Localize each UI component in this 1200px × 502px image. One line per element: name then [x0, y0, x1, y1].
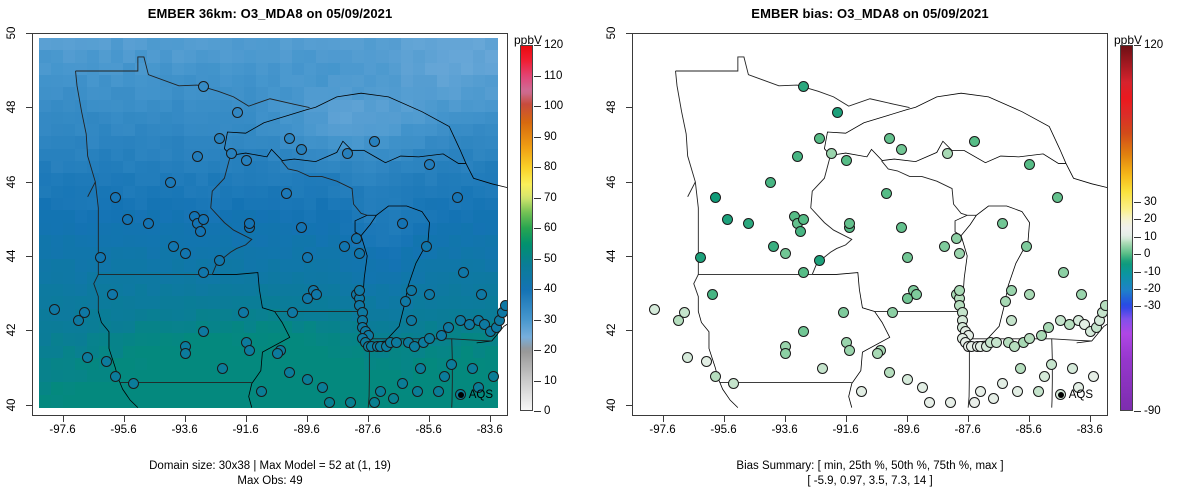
x-axis-tick	[968, 416, 969, 422]
aqs-station-marker[interactable]	[1067, 363, 1078, 374]
aqs-dot-icon	[1058, 392, 1064, 398]
aqs-station-marker[interactable]	[695, 252, 706, 263]
y-axis-tick	[26, 33, 32, 34]
aqs-station-marker[interactable]	[101, 356, 112, 367]
x-axis-tick-label: -97.6	[49, 424, 75, 436]
aqs-station-markers-bias[interactable]	[633, 34, 1107, 415]
aqs-station-marker[interactable]	[238, 307, 249, 318]
aqs-station-marker[interactable]	[296, 144, 307, 155]
x-axis-tick	[185, 416, 186, 422]
aqs-station-marker[interactable]	[649, 304, 660, 315]
colorbar-tick	[534, 259, 541, 260]
x-axis-tick-label: -97.6	[649, 424, 675, 436]
aqs-station-marker[interactable]	[256, 386, 267, 397]
aqs-station-marker[interactable]	[798, 214, 809, 225]
x-axis-tick-label: -89.6	[294, 424, 320, 436]
colorbar-tick-label: 40	[544, 283, 557, 295]
aqs-station-marker[interactable]	[284, 133, 295, 144]
colorbar-tick-label: 80	[544, 161, 557, 173]
x-axis-tick	[663, 416, 664, 422]
colorbar-tick-label: 20	[1144, 213, 1157, 225]
aqs-station-marker[interactable]	[997, 378, 1008, 389]
aqs-station-marker[interactable]	[369, 397, 380, 408]
aqs-station-marker[interactable]	[180, 348, 191, 359]
aqs-station-marker[interactable]	[424, 159, 435, 170]
x-axis-tick	[246, 416, 247, 422]
aqs-station-marker[interactable]	[798, 326, 809, 337]
colorbar-tick	[534, 76, 541, 77]
colorbar-tick-label: -20	[1144, 283, 1161, 295]
x-axis-tick	[907, 416, 908, 422]
aqs-station-marker[interactable]	[82, 352, 93, 363]
x-axis-tick	[1029, 416, 1030, 422]
aqs-station-marker[interactable]	[814, 133, 825, 144]
aqs-station-marker[interactable]	[1046, 359, 1057, 370]
colorbar-tick-label: 0	[544, 405, 550, 417]
aqs-station-marker[interactable]	[887, 307, 898, 318]
aqs-legend-label: AQS	[469, 389, 493, 401]
aqs-station-marker[interactable]	[369, 136, 380, 147]
aqs-station-marker[interactable]	[954, 248, 965, 259]
colorbar-tick	[1134, 45, 1141, 46]
y-axis-tick-label: 40	[6, 398, 18, 411]
panel-bias: EMBER bias: O3_MDA8 on 05/09/2021 AQS -9…	[600, 0, 1200, 502]
aqs-station-marker[interactable]	[743, 218, 754, 229]
colorbar-tick	[534, 106, 541, 107]
y-axis-tick-label: 48	[6, 101, 18, 114]
aqs-station-marker[interactable]	[832, 107, 843, 118]
y-axis-tick-label: 44	[6, 250, 18, 263]
y-axis-tick	[626, 330, 632, 331]
caption-line2-bias: [ -5.9, 0.97, 3.5, 7.3, 14 ]	[600, 474, 1140, 489]
aqs-station-marker[interactable]	[180, 248, 191, 259]
caption-model: Domain size: 30x38 | Max Model = 52 at (…	[0, 459, 540, 489]
aqs-station-marker[interactable]	[424, 289, 435, 300]
aqs-station-marker[interactable]	[814, 255, 825, 266]
colorbar-tick-label: 50	[544, 253, 557, 265]
x-axis-tick-label: -87.6	[355, 424, 381, 436]
aqs-legend-bias: AQS	[1058, 389, 1093, 401]
aqs-station-marker[interactable]	[881, 188, 892, 199]
aqs-station-marker[interactable]	[354, 248, 365, 259]
aqs-station-marker[interactable]	[884, 133, 895, 144]
aqs-station-marker[interactable]	[902, 374, 913, 385]
aqs-station-marker[interactable]	[1052, 192, 1063, 203]
aqs-station-marker[interactable]	[324, 397, 335, 408]
aqs-station-marker[interactable]	[707, 289, 718, 300]
aqs-station-marker[interactable]	[424, 333, 435, 344]
colorbar-tick	[534, 381, 541, 382]
x-axis-tick-label: -85.6	[416, 424, 442, 436]
aqs-station-marker[interactable]	[446, 359, 457, 370]
aqs-station-marker[interactable]	[969, 397, 980, 408]
aqs-station-marker[interactable]	[917, 382, 928, 393]
colorbar-tick	[1134, 202, 1141, 203]
panel-model: EMBER 36km: O3_MDA8 on 05/09/2021 AQS -9…	[0, 0, 600, 502]
colorbar-tick	[534, 167, 541, 168]
y-axis-tick	[26, 182, 32, 183]
y-axis-tick	[626, 256, 632, 257]
aqs-station-marker[interactable]	[780, 248, 791, 259]
aqs-station-marker[interactable]	[884, 367, 895, 378]
aqs-station-marker[interactable]	[143, 218, 154, 229]
colorbar-tick-label: -10	[1144, 266, 1161, 278]
x-axis-tick-label: -93.6	[171, 424, 197, 436]
aqs-station-marker[interactable]	[728, 378, 739, 389]
y-axis-tick-label: 50	[6, 27, 18, 40]
aqs-station-marker[interactable]	[838, 307, 849, 318]
x-axis-tick-label: -91.6	[232, 424, 258, 436]
aqs-station-marker[interactable]	[467, 363, 478, 374]
aqs-station-marker[interactable]	[1006, 315, 1017, 326]
colorbar-tick	[534, 350, 541, 351]
aqs-station-marker[interactable]	[1088, 371, 1099, 382]
aqs-station-marker[interactable]	[817, 363, 828, 374]
aqs-station-marker[interactable]	[1033, 386, 1044, 397]
colorbar-tick	[1134, 254, 1141, 255]
aqs-station-marker[interactable]	[439, 371, 450, 382]
aqs-station-marker[interactable]	[198, 326, 209, 337]
aqs-station-marker[interactable]	[896, 222, 907, 233]
x-axis-tick	[307, 416, 308, 422]
colorbar-gradient-bias	[1120, 45, 1133, 411]
aqs-station-marker[interactable]	[452, 192, 463, 203]
aqs-station-marker[interactable]	[1021, 241, 1032, 252]
aqs-station-marker[interactable]	[1100, 300, 1108, 311]
colorbar-tick-label: -90	[1144, 405, 1161, 417]
aqs-station-marker[interactable]	[951, 233, 962, 244]
aqs-station-marker[interactable]	[1006, 285, 1017, 296]
colorbar-tick-label: 60	[544, 222, 557, 234]
aqs-station-marker[interactable]	[284, 367, 295, 378]
aqs-station-marker[interactable]	[841, 155, 852, 166]
caption-line1-model: Domain size: 30x38 | Max Model = 52 at (…	[0, 459, 540, 474]
colorbar-tick	[1134, 237, 1141, 238]
y-axis-tick	[26, 330, 32, 331]
x-axis-tick-label: -89.6	[894, 424, 920, 436]
colorbar-tick	[1134, 306, 1141, 307]
aqs-station-marker[interactable]	[1012, 386, 1023, 397]
colorbar-tick	[1134, 289, 1141, 290]
caption-line2-model: Max Obs: 49	[0, 474, 540, 489]
aqs-legend-model: AQS	[458, 389, 493, 401]
colorbar-gradient-model	[520, 45, 533, 411]
y-axis-tick	[626, 405, 632, 406]
aqs-station-marker[interactable]	[826, 148, 837, 159]
x-axis-tick-label: -91.6	[832, 424, 858, 436]
aqs-station-marker[interactable]	[433, 386, 444, 397]
x-axis-tick	[846, 416, 847, 422]
y-axis-tick-label: 46	[606, 175, 618, 188]
x-axis-tick	[724, 416, 725, 422]
x-axis-tick	[124, 416, 125, 422]
aqs-station-marker[interactable]	[710, 192, 721, 203]
aqs-station-marker[interactable]	[122, 214, 133, 225]
y-axis-tick	[26, 256, 32, 257]
colorbar-tick-label: -30	[1144, 300, 1161, 312]
x-axis-tick-label: -95.6	[110, 424, 136, 436]
caption-line1-bias: Bias Summary: [ min, 25th %, 50th %, 75t…	[600, 459, 1140, 474]
colorbar-tick-label: 20	[544, 344, 557, 356]
aqs-station-marker[interactable]	[679, 307, 690, 318]
aqs-station-marker[interactable]	[1024, 159, 1035, 170]
aqs-station-marker[interactable]	[272, 348, 283, 359]
y-axis-tick-label: 42	[606, 324, 618, 337]
aqs-station-marker[interactable]	[110, 192, 121, 203]
aqs-station-marker[interactable]	[317, 382, 328, 393]
aqs-station-marker[interactable]	[1043, 322, 1054, 333]
y-axis-tick-label: 46	[6, 175, 18, 188]
colorbar-tick-label: 100	[544, 100, 563, 112]
aqs-station-marker[interactable]	[768, 241, 779, 252]
aqs-station-marker[interactable]	[682, 352, 693, 363]
aqs-station-marker[interactable]	[412, 386, 423, 397]
aqs-station-marker[interactable]	[49, 304, 60, 315]
aqs-station-marker[interactable]	[397, 378, 408, 389]
y-axis-tick	[26, 405, 32, 406]
x-axis-tick-label: -93.6	[771, 424, 797, 436]
aqs-station-marker[interactable]	[856, 386, 867, 397]
aqs-station-marker[interactable]	[217, 363, 228, 374]
aqs-station-marker[interactable]	[1039, 371, 1050, 382]
aqs-station-marker[interactable]	[195, 226, 206, 237]
aqs-station-marker[interactable]	[214, 133, 225, 144]
colorbar-tick	[534, 411, 541, 412]
aqs-station-marker[interactable]	[311, 289, 322, 300]
aqs-station-marker[interactable]	[991, 337, 1002, 348]
aqs-station-marker[interactable]	[198, 267, 209, 278]
aqs-station-marker[interactable]	[406, 315, 417, 326]
colorbar-tick	[534, 137, 541, 138]
aqs-station-marker[interactable]	[924, 397, 935, 408]
colorbar-tick-label: 120	[1144, 39, 1163, 51]
aqs-station-marker[interactable]	[988, 393, 999, 404]
aqs-station-marker[interactable]	[896, 144, 907, 155]
aqs-station-marker[interactable]	[488, 371, 499, 382]
aqs-dot-icon	[458, 392, 464, 398]
aqs-station-marker[interactable]	[198, 214, 209, 225]
aqs-station-marker[interactable]	[939, 241, 950, 252]
aqs-station-marker[interactable]	[500, 300, 508, 311]
aqs-station-marker[interactable]	[226, 148, 237, 159]
aqs-station-marker[interactable]	[792, 151, 803, 162]
caption-bias: Bias Summary: [ min, 25th %, 50th %, 75t…	[600, 459, 1140, 489]
x-axis-tick-label: -87.6	[955, 424, 981, 436]
aqs-station-marker[interactable]	[302, 374, 313, 385]
aqs-station-marker[interactable]	[1015, 363, 1026, 374]
colorbar-tick	[534, 320, 541, 321]
aqs-station-marker[interactable]	[165, 177, 176, 188]
colorbar-tick	[534, 228, 541, 229]
x-axis-tick	[429, 416, 430, 422]
aqs-station-marker[interactable]	[701, 356, 712, 367]
colorbar-tick	[534, 45, 541, 46]
colorbar-tick-label: 70	[544, 192, 557, 204]
aqs-station-marker[interactable]	[214, 255, 225, 266]
colorbar-tick	[1134, 219, 1141, 220]
aqs-station-marker[interactable]	[287, 307, 298, 318]
aqs-station-marker[interactable]	[1024, 333, 1035, 344]
aqs-station-marker[interactable]	[95, 252, 106, 263]
aqs-legend-label: AQS	[1069, 389, 1093, 401]
aqs-station-marker[interactable]	[1024, 289, 1035, 300]
x-axis-tick	[63, 416, 64, 422]
colorbar-tick	[534, 198, 541, 199]
aqs-station-marker[interactable]	[79, 307, 90, 318]
x-axis-tick	[1090, 416, 1091, 422]
aqs-station-marker[interactable]	[415, 363, 426, 374]
aqs-station-marker[interactable]	[107, 289, 118, 300]
x-axis-tick	[785, 416, 786, 422]
aqs-station-marker[interactable]	[975, 386, 986, 397]
aqs-station-marker[interactable]	[780, 348, 791, 359]
panel-title-model: EMBER 36km: O3_MDA8 on 05/09/2021	[0, 6, 540, 21]
colorbar-tick-label: 30	[1144, 196, 1157, 208]
aqs-station-marker[interactable]	[110, 371, 121, 382]
aqs-station-marker[interactable]	[375, 386, 386, 397]
y-axis-tick	[626, 107, 632, 108]
y-axis-tick-label: 40	[606, 398, 618, 411]
aqs-station-marker[interactable]	[1000, 296, 1011, 307]
aqs-station-marker[interactable]	[388, 393, 399, 404]
aqs-station-marker[interactable]	[476, 289, 487, 300]
plot-area-model[interactable]: AQS	[32, 33, 508, 416]
aqs-station-marker[interactable]	[798, 81, 809, 92]
aqs-station-marker[interactable]	[128, 378, 139, 389]
y-axis-tick	[626, 182, 632, 183]
aqs-station-marker[interactable]	[351, 233, 362, 244]
aqs-station-marker[interactable]	[168, 241, 179, 252]
y-axis-tick	[626, 33, 632, 34]
aqs-station-marker[interactable]	[391, 337, 402, 348]
aqs-station-marker[interactable]	[198, 81, 209, 92]
aqs-station-marker[interactable]	[296, 222, 307, 233]
y-axis-tick-label: 42	[6, 324, 18, 337]
aqs-station-marker[interactable]	[911, 289, 922, 300]
x-axis-tick	[490, 416, 491, 422]
x-axis-tick	[368, 416, 369, 422]
aqs-station-marker[interactable]	[798, 267, 809, 278]
aqs-station-marker[interactable]	[997, 218, 1008, 229]
x-axis-tick-label: -83.6	[477, 424, 503, 436]
colorbar-tick	[1134, 411, 1141, 412]
aqs-station-marker[interactable]	[232, 107, 243, 118]
y-axis-tick-label: 44	[606, 250, 618, 263]
x-axis-tick-label: -83.6	[1077, 424, 1103, 436]
aqs-station-marker[interactable]	[1076, 289, 1087, 300]
aqs-station-marker[interactable]	[443, 322, 454, 333]
aqs-station-marker[interactable]	[945, 397, 956, 408]
aqs-station-marker[interactable]	[458, 267, 469, 278]
aqs-station-marker[interactable]	[241, 155, 252, 166]
aqs-station-marker[interactable]	[710, 371, 721, 382]
aqs-station-marker[interactable]	[397, 218, 408, 229]
aqs-station-marker[interactable]	[902, 252, 913, 263]
colorbar-tick	[534, 289, 541, 290]
aqs-station-marker[interactable]	[765, 177, 776, 188]
colorbar-tick-label: 0	[1144, 248, 1150, 260]
x-axis-tick-label: -85.6	[1016, 424, 1042, 436]
aqs-station-marker[interactable]	[844, 345, 855, 356]
colorbar-tick-label: 90	[544, 131, 557, 143]
aqs-station-marker[interactable]	[969, 136, 980, 147]
colorbar-tick-label: 30	[544, 314, 557, 326]
aqs-station-marker[interactable]	[795, 226, 806, 237]
panel-title-bias: EMBER bias: O3_MDA8 on 05/09/2021	[600, 6, 1140, 21]
colorbar-tick-label: 110	[544, 70, 562, 82]
aqs-station-marker[interactable]	[722, 214, 733, 225]
aqs-station-marker[interactable]	[345, 397, 356, 408]
aqs-station-marker[interactable]	[281, 188, 292, 199]
aqs-station-marker[interactable]	[1058, 267, 1069, 278]
y-axis-tick	[26, 107, 32, 108]
aqs-station-marker[interactable]	[342, 148, 353, 159]
colorbar-tick-label: 10	[544, 375, 557, 387]
aqs-station-marker[interactable]	[406, 285, 417, 296]
colorbar-tick-label: 10	[1144, 231, 1157, 243]
colorbar-tick-label: 120	[544, 39, 563, 51]
y-axis-tick-label: 48	[606, 101, 618, 114]
aqs-station-marker[interactable]	[302, 252, 313, 263]
colorbar-tick	[1134, 272, 1141, 273]
aqs-station-marker[interactable]	[872, 348, 883, 359]
aqs-station-marker[interactable]	[942, 148, 953, 159]
aqs-station-marker[interactable]	[421, 241, 432, 252]
aqs-station-marker[interactable]	[400, 296, 411, 307]
aqs-station-marker[interactable]	[192, 151, 203, 162]
aqs-station-markers-model[interactable]	[33, 34, 507, 415]
plot-area-bias[interactable]: AQS	[632, 33, 1108, 416]
aqs-station-marker[interactable]	[339, 241, 350, 252]
x-axis-tick-label: -95.6	[710, 424, 736, 436]
y-axis-tick-label: 50	[606, 27, 618, 40]
aqs-station-marker[interactable]	[244, 345, 255, 356]
